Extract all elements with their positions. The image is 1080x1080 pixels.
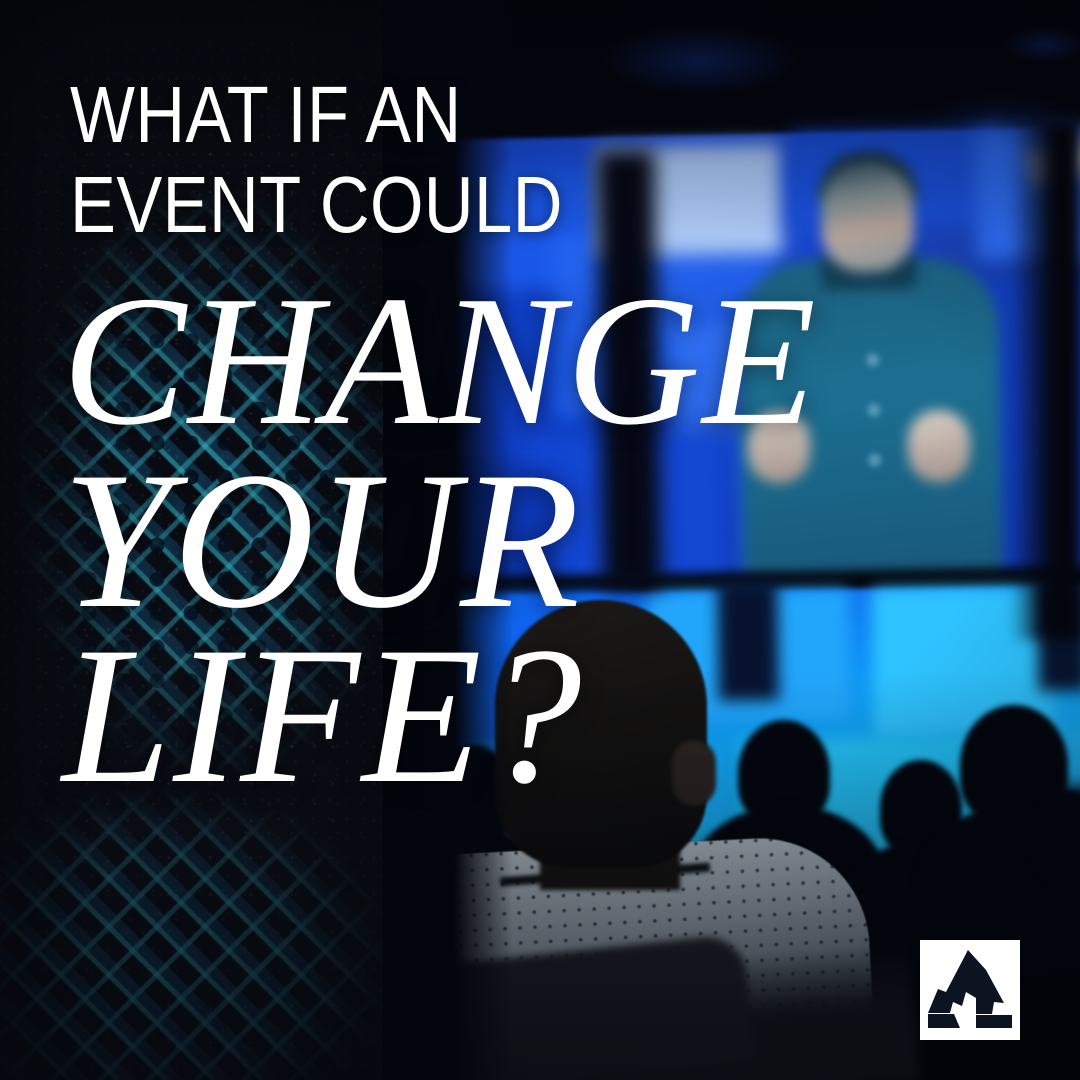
- left-texture-panel: [0, 0, 383, 1080]
- mountain-peak-icon: [920, 940, 1020, 1040]
- mountain-peak-logo[interactable]: [920, 940, 1020, 1040]
- poster-canvas: WHAT IF AN EVENT COULD CHANGE YOUR LIFE?: [0, 0, 1080, 1080]
- panel-edge-shadow: [383, 0, 513, 1080]
- panel-shading-gradient: [0, 0, 383, 1080]
